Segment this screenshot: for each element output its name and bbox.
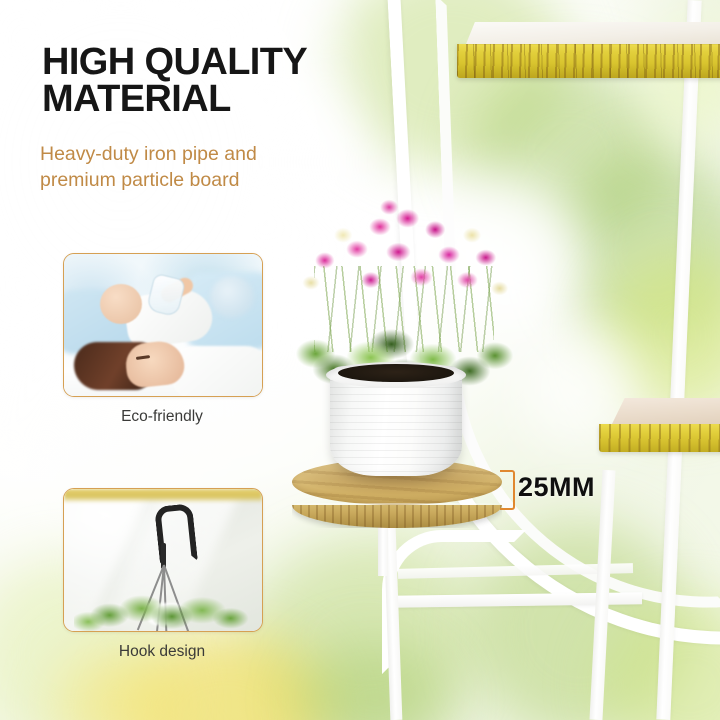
hanging-plant-foliage <box>74 591 252 632</box>
feature-caption-hook-design: Hook design <box>63 643 261 661</box>
hanging-hook-photo <box>64 489 262 631</box>
teddy-bear <box>210 276 254 318</box>
wood-shelf-middle <box>612 398 720 452</box>
page-title: HIGH QUALITY MATERIAL <box>42 44 372 118</box>
wood-shelf-top <box>466 22 720 78</box>
headline-line-2: MATERIAL <box>42 81 372 118</box>
wood-shelf-middle-edge <box>599 424 720 452</box>
baby-head <box>100 284 142 324</box>
subheadline-line-1: Heavy-duty iron pipe and <box>40 143 257 165</box>
pot-soil <box>338 364 454 382</box>
product-feature-banner: HIGH QUALITY MATERIAL Heavy-duty iron pi… <box>0 0 720 720</box>
headline-line-1: HIGH QUALITY <box>42 41 307 83</box>
wood-shelf-top-surface <box>466 22 720 44</box>
thickness-bracket-icon <box>500 470 515 510</box>
wood-shelf-middle-surface <box>612 398 720 424</box>
page-subtitle: Heavy-duty iron pipe and premium particl… <box>40 142 370 193</box>
round-shelf-highlight <box>295 503 499 505</box>
subheadline-line-2: premium particle board <box>40 168 370 194</box>
feature-caption-eco-friendly: Eco-friendly <box>63 408 261 426</box>
wood-shelf-top-edge <box>457 44 720 78</box>
feature-card-hook-design: Hook design <box>63 488 261 661</box>
feature-thumbnail-eco-friendly <box>63 253 263 397</box>
feature-card-eco-friendly: Eco-friendly <box>63 253 261 426</box>
feature-thumbnail-hook-design <box>63 488 263 632</box>
mother-body <box>172 346 263 397</box>
mother-baby-photo <box>64 254 262 396</box>
ceiling-wood-strip <box>64 489 262 503</box>
thickness-callout-label: 25MM <box>518 472 595 503</box>
